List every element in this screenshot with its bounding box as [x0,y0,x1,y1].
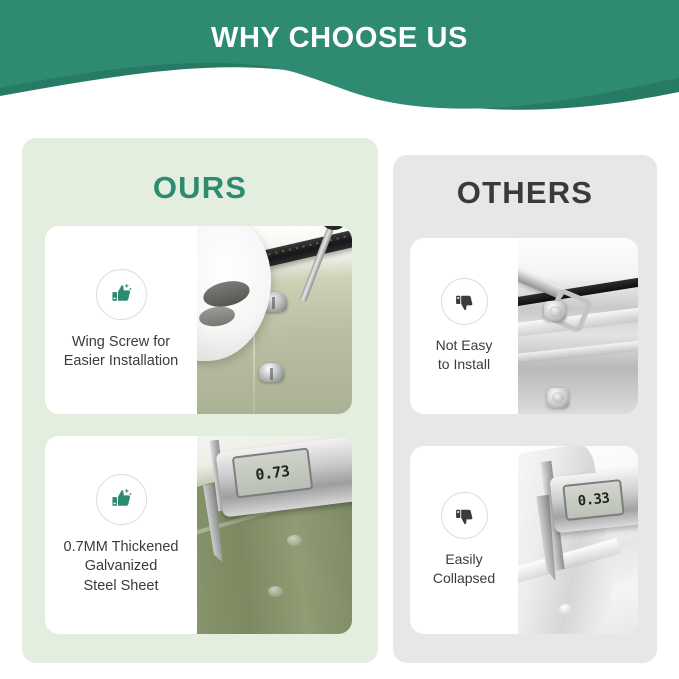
feature-card-others-2[interactable]: Easily Collapsed 0.33 [410,446,638,634]
photo-wrench-bolts [518,238,638,414]
hex-bolt-lower [547,388,569,408]
thumbs-up-glyph [108,281,134,307]
column-heading-others: OTHERS [393,175,657,211]
feature-card-ours-2-label: 0.7MM Thickened Galvanized Steel Sheet [64,538,179,596]
page-title: WHY CHOOSE US [0,22,679,55]
thumbs-down-glyph [452,504,476,528]
header-wave-shape [0,0,679,112]
feature-card-ours-1-text: Wing Screw for Easier Installation [45,226,197,414]
photo-caliper-white-sheet: 0.33 [518,446,638,634]
column-heading-ours: OURS [22,170,378,206]
wing-screw-lower [259,363,284,382]
feature-card-others-1-label: Not Easy to Install [436,336,493,374]
feature-card-others-2-text: Easily Collapsed [410,446,518,634]
feature-card-ours-1[interactable]: Wing Screw for Easier Installation [45,226,352,414]
thumbs-down-icon [441,278,488,325]
photo-wing-screw-install [197,226,352,414]
thumbs-down-icon [441,492,488,539]
thumbs-up-icon [96,269,147,320]
photo-caliper-sage-sheet: 0.73 [197,436,352,634]
feature-card-others-2-label: Easily Collapsed [433,550,495,588]
feature-card-ours-1-label: Wing Screw for Easier Installation [64,333,178,372]
feature-card-ours-2[interactable]: 0.7MM Thickened Galvanized Steel Sheet 0… [45,436,352,634]
feature-card-others-1-text: Not Easy to Install [410,238,518,414]
caliper-reading-others: 0.33 [577,490,610,509]
caliper-reading-ours: 0.73 [255,462,291,484]
thumbs-up-icon [96,474,147,525]
page-header: WHY CHOOSE US [0,0,679,112]
feature-card-others-1[interactable]: Not Easy to Install [410,238,638,414]
hex-bolt-upper [544,301,566,321]
caliper-display: 0.33 [562,479,625,521]
thumbs-up-glyph [108,486,134,512]
feature-card-ours-2-text: 0.7MM Thickened Galvanized Steel Sheet [45,436,197,634]
thumbs-down-glyph [452,290,476,314]
